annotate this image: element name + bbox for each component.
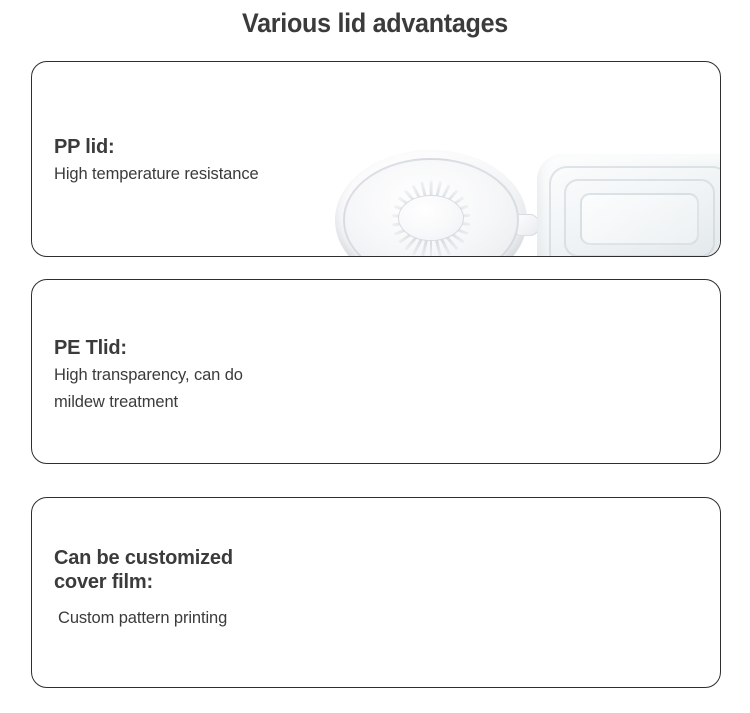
panel-cover-film-text: Can be customized cover film: Custom pat…: [54, 547, 233, 632]
panel-pe-lid-subtitle-line-1: High transparency, can do: [54, 363, 243, 389]
panel-pe-lid-subtitle-line-2: mildew treatment: [54, 390, 243, 416]
panel-pe-lid: PE Tlid: High transparency, can do milde…: [31, 279, 721, 464]
pp-rect-ridge-inner: [580, 193, 699, 245]
panel-pp-lid-subtitle: High temperature resistance: [54, 162, 259, 188]
panel-cover-film-heading-line-1: Can be customized: [54, 547, 233, 571]
page-title: Various lid advantages: [26, 8, 724, 39]
round-ribbed-pp-lid-image: [335, 150, 527, 257]
panel-cover-film: Can be customized cover film: Custom pat…: [31, 497, 721, 688]
rectangular-pp-lid-image: [537, 154, 721, 257]
pp-lid-center-hub: [398, 195, 463, 241]
panel-pe-lid-heading: PE Tlid:: [54, 337, 243, 361]
infographic-page: Various lid advantages PP lid: High temp…: [0, 0, 750, 713]
panel-pp-lid-text: PP lid: High temperature resistance: [54, 136, 259, 187]
panel-pe-lid-text: PE Tlid: High transparency, can do milde…: [54, 337, 243, 416]
panel-pp-lid: PP lid: High temperature resistance: [31, 61, 721, 257]
panel-cover-film-heading-line-2: cover film:: [54, 571, 233, 595]
panel-pp-lid-heading: PP lid:: [54, 136, 259, 160]
panel-cover-film-subtitle: Custom pattern printing: [58, 606, 233, 632]
